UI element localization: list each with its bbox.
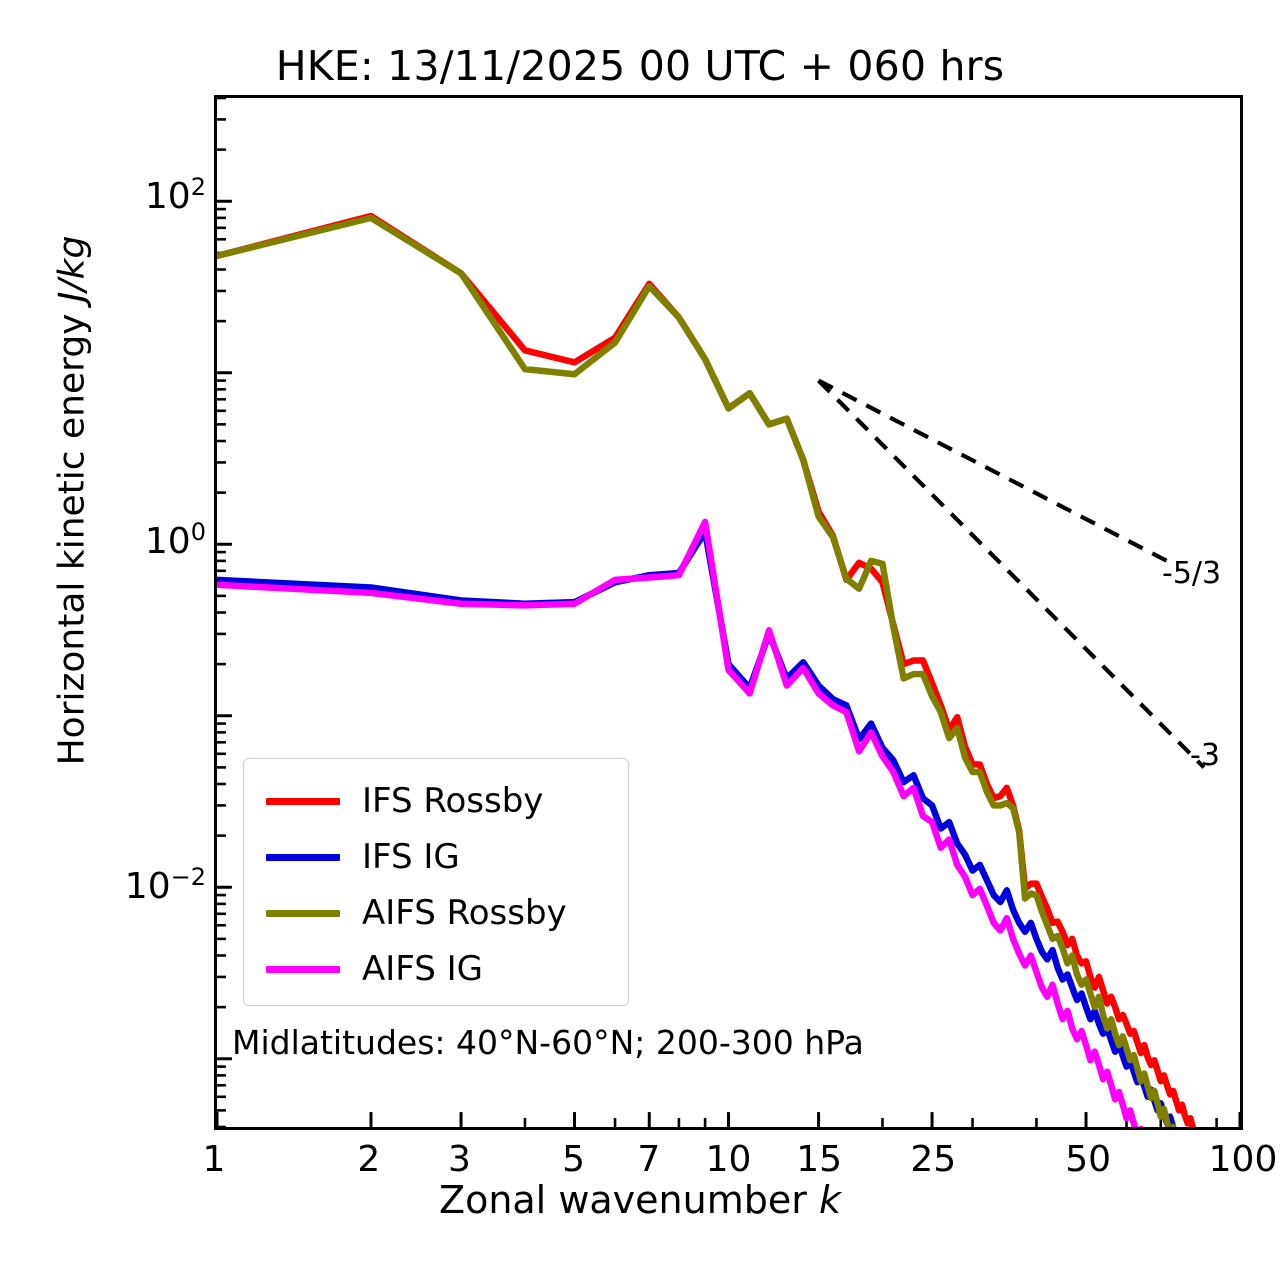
x-tick-label: 25: [873, 1139, 993, 1180]
reference-line-0: [819, 381, 1177, 566]
legend-item-label: IFS Rossby: [362, 784, 543, 818]
y-tick-label: 10−2: [125, 863, 206, 907]
y-tick-exponent: −2: [171, 863, 206, 891]
legend-swatch-icon: [266, 966, 340, 973]
legend-item-2[interactable]: AIFS Rossby: [244, 885, 628, 941]
legend: IFS RossbyIFS IGAIFS RossbyAIFS IG: [243, 758, 629, 1006]
figure-canvas: HKE: 13/11/2025 00 UTC + 060 hrs 1235710…: [0, 0, 1280, 1288]
legend-item-1[interactable]: IFS IG: [244, 829, 628, 885]
legend-swatch-icon: [266, 854, 340, 861]
y-axis-label-units: J/kg: [52, 236, 93, 302]
legend-item-0[interactable]: IFS Rossby: [244, 773, 628, 829]
y-tick-exponent: 2: [191, 173, 206, 201]
legend-item-label: AIFS Rossby: [362, 896, 567, 930]
legend-swatch-icon: [266, 798, 340, 805]
y-tick-label: 100: [145, 518, 206, 562]
x-tick-label: 15: [759, 1139, 879, 1180]
legend-item-label: IFS IG: [362, 840, 460, 874]
x-axis-label-text: Zonal wavenumber: [439, 1178, 819, 1222]
y-tick-label: 102: [145, 173, 206, 217]
page-title: HKE: 13/11/2025 00 UTC + 060 hrs: [0, 42, 1280, 90]
slope-label-3: -3: [1190, 738, 1220, 773]
x-tick-label: 100: [1183, 1139, 1280, 1180]
y-axis-label-text: Horizontal kinetic energy: [52, 302, 93, 765]
x-tick-label: 1: [154, 1139, 274, 1180]
x-tick-label: 3: [399, 1139, 519, 1180]
x-axis-label: Zonal wavenumber k: [0, 1178, 1280, 1222]
y-tick-mantissa: 10: [145, 176, 191, 217]
y-tick-exponent: 0: [191, 518, 206, 546]
legend-swatch-icon: [266, 910, 340, 917]
y-tick-mantissa: 10: [125, 866, 171, 907]
y-axis-label: Horizontal kinetic energy J/kg: [52, 1, 93, 1001]
region-annotation: Midlatitudes: 40°N-60°N; 200-300 hPa: [232, 1023, 864, 1062]
slope-label-5-3: -5/3: [1162, 556, 1221, 591]
legend-item-3[interactable]: AIFS IG: [244, 941, 628, 997]
x-axis-label-symbol: k: [819, 1178, 841, 1222]
x-tick-label: 50: [1028, 1139, 1148, 1180]
y-tick-mantissa: 10: [145, 521, 191, 562]
legend-item-label: AIFS IG: [362, 952, 483, 986]
